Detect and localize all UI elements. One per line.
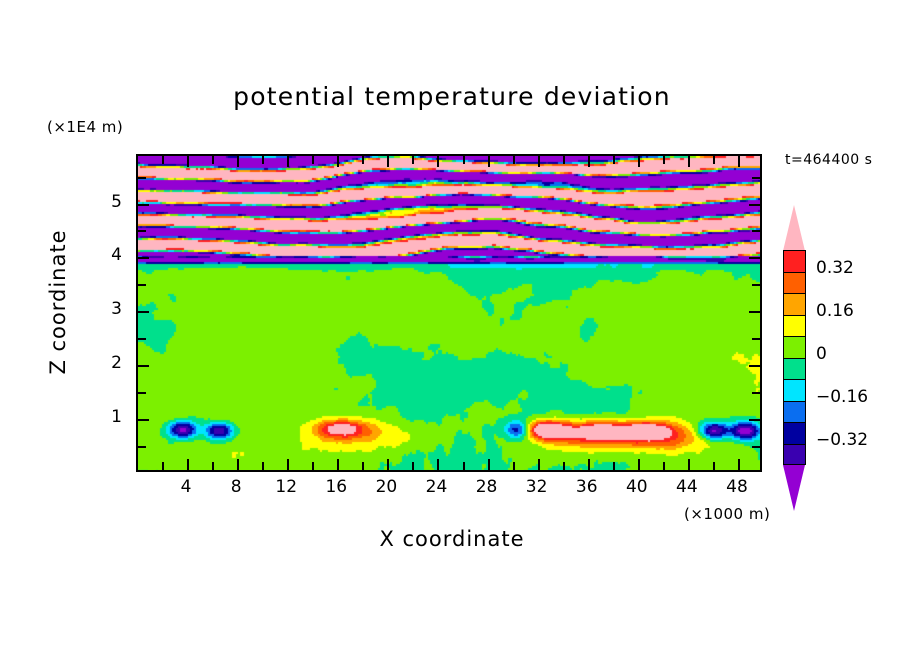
x-tick [287,459,289,470]
x-tick [488,459,490,470]
y-tick [138,177,146,179]
x-tick [463,462,465,470]
colorbar-tick-label: 0 [816,344,827,364]
y-tick [752,177,760,179]
x-tick [463,156,465,164]
x-tick [638,459,640,470]
x-tick [162,156,164,164]
x-tick [437,156,439,167]
x-tick [187,156,189,167]
y-tick-label: 4 [96,245,122,265]
y-tick [138,204,149,206]
x-tick [738,156,740,167]
x-tick [563,462,565,470]
colorbar-swatch [783,293,806,315]
y-tick [749,204,760,206]
y-axis-title: Z coordinate [46,222,70,382]
y-tick [749,257,760,259]
y-tick [138,257,149,259]
x-tick [387,459,389,470]
colorbar-swatch [783,401,806,423]
colorbar [783,250,806,465]
colorbar-swatch [783,250,806,272]
x-tick-label: 24 [413,477,459,497]
colorbar-tick-label: 0.16 [816,301,854,321]
x-tick [688,459,690,470]
x-tick [488,156,490,167]
y-tick [138,419,149,421]
x-axis-unit-label: (×1000 m) [684,505,770,523]
x-tick [588,459,590,470]
x-tick [287,156,289,167]
x-tick [563,156,565,164]
x-tick-label: 48 [714,477,760,497]
x-tick [237,156,239,167]
colorbar-swatch [783,358,806,380]
x-tick [437,459,439,470]
x-tick-label: 8 [213,477,259,497]
x-tick [412,462,414,470]
figure-root: potential temperature deviation (×1E4 m)… [0,0,904,654]
x-tick-label: 4 [163,477,209,497]
x-tick [513,462,515,470]
x-tick [738,459,740,470]
x-tick-label: 28 [464,477,510,497]
y-tick [138,446,146,448]
y-tick [138,392,146,394]
x-tick [337,156,339,167]
x-tick [513,156,515,164]
x-tick-label: 44 [664,477,710,497]
contour-plot-area [136,154,762,472]
x-tick [362,156,364,164]
x-tick-label: 36 [564,477,610,497]
y-tick [752,230,760,232]
x-tick [262,156,264,164]
x-tick [387,156,389,167]
x-tick-label: 12 [263,477,309,497]
x-tick [613,156,615,164]
colorbar-swatch [783,272,806,294]
y-tick [138,284,146,286]
x-tick [262,462,264,470]
x-tick-label: 16 [313,477,359,497]
y-tick [749,365,760,367]
x-tick [162,462,164,470]
x-tick [538,156,540,167]
x-tick [613,462,615,470]
x-tick [312,462,314,470]
x-tick [713,156,715,164]
x-tick [237,459,239,470]
y-tick-label: 1 [96,407,122,427]
x-tick [588,156,590,167]
x-tick [312,156,314,164]
y-tick [138,365,149,367]
y-tick [752,284,760,286]
chart-title: potential temperature deviation [0,82,904,111]
y-tick-label: 2 [96,353,122,373]
y-tick [138,338,146,340]
colorbar-tick-label: 0.32 [816,258,854,278]
y-tick [749,311,760,313]
colorbar-swatch [783,422,806,444]
y-tick-label: 5 [96,192,122,212]
colorbar-swatch [783,444,806,466]
colorbar-tick-label: −0.16 [816,387,868,407]
y-tick [752,446,760,448]
colorbar-extend-low-arrow [783,465,805,511]
contour-field [138,156,762,472]
x-tick-label: 20 [363,477,409,497]
y-axis-unit-label: (×1E4 m) [47,118,123,136]
colorbar-swatch [783,336,806,358]
y-tick [138,230,146,232]
x-tick [212,156,214,164]
time-annotation: t=464400 s [785,152,872,168]
x-tick [337,459,339,470]
x-tick [412,156,414,164]
x-tick-label: 32 [514,477,560,497]
colorbar-swatch [783,379,806,401]
colorbar-swatch [783,315,806,337]
x-tick [538,459,540,470]
y-tick [752,338,760,340]
y-tick [138,311,149,313]
x-tick [713,462,715,470]
x-tick [663,462,665,470]
x-tick-label: 40 [614,477,660,497]
colorbar-tick-label: −0.32 [816,430,868,450]
x-tick [638,156,640,167]
colorbar-extend-high-arrow [783,205,805,251]
x-tick [663,156,665,164]
x-tick [362,462,364,470]
x-tick [212,462,214,470]
x-axis-title: X coordinate [0,527,904,551]
y-tick [752,392,760,394]
x-tick [688,156,690,167]
x-tick [187,459,189,470]
y-tick-label: 3 [96,299,122,319]
y-tick [749,419,760,421]
